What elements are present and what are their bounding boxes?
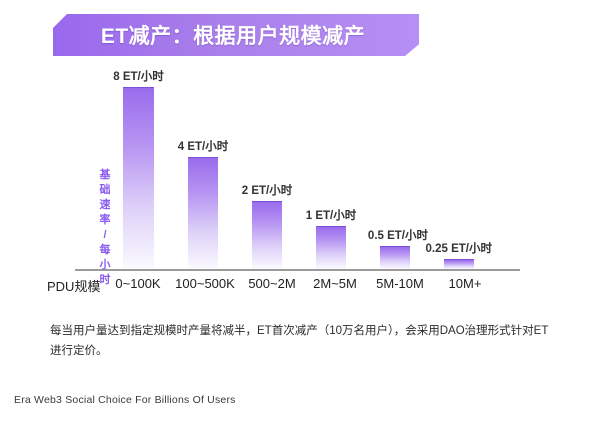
y-axis-caption-char: / (96, 228, 114, 243)
x-axis-tick-label: 100~500K (175, 276, 235, 291)
y-axis-caption-char: 础 (96, 183, 114, 198)
chart-bar-group: 4 ET/小时 (188, 158, 218, 269)
x-axis-tick-label: 10M+ (449, 276, 482, 291)
bar-chart: 基 础 速 率 / 每 小 时 8 ET/小时 4 ET/小时 2 ET/小时 … (0, 60, 600, 275)
chart-bar[interactable] (252, 201, 282, 269)
y-axis-caption-char: 率 (96, 213, 114, 228)
chart-bar-value-label: 2 ET/小时 (242, 182, 292, 198)
chart-bar[interactable] (380, 246, 410, 269)
x-axis-tick-label: 0~100K (115, 276, 160, 291)
chart-bar-value-label: 1 ET/小时 (306, 207, 356, 223)
chart-bar[interactable] (123, 87, 154, 269)
chart-bar[interactable] (188, 157, 218, 269)
chart-bar-group: 1 ET/小时 (316, 227, 346, 269)
y-axis-caption-char: 速 (96, 198, 114, 213)
chart-bar-value-label: 8 ET/小时 (113, 68, 163, 84)
y-axis-caption: 基 础 速 率 / 每 小 时 (96, 168, 114, 288)
footer-tagline: Era Web3 Social Choice For Billions Of U… (14, 394, 236, 406)
page-title: ET减产：根据用户规模减产 (101, 20, 371, 50)
y-axis-caption-char: 每 (96, 243, 114, 258)
chart-bar-value-label: 4 ET/小时 (178, 138, 228, 154)
chart-bar-value-label: 0.25 ET/小时 (426, 240, 492, 256)
chart-bar[interactable] (316, 226, 346, 269)
title-banner: ET减产：根据用户规模减产 (53, 14, 419, 56)
y-axis-caption-char: 小 (96, 258, 114, 273)
chart-bar[interactable] (444, 259, 474, 269)
x-axis: PDU规模 0~100K 100~500K 500~2M 2M~5M 5M-10… (0, 276, 600, 296)
chart-bar-group: 0.25 ET/小时 (444, 260, 474, 269)
x-axis-title: PDU规模 (47, 276, 100, 295)
y-axis-caption-char: 基 (96, 168, 114, 183)
chart-axis-line (75, 269, 520, 271)
chart-bar-group: 2 ET/小时 (252, 202, 282, 269)
chart-bar-group: 0.5 ET/小时 (380, 247, 410, 269)
body-paragraph: 每当用户量达到指定规模时产量将减半，ET首次减产（10万名用户），会采用DAO治… (50, 321, 555, 361)
x-axis-tick-label: 5M-10M (376, 276, 424, 291)
chart-bar-group: 8 ET/小时 (123, 88, 154, 269)
x-axis-tick-label: 500~2M (248, 276, 295, 291)
chart-bar-value-label: 0.5 ET/小时 (368, 227, 428, 243)
x-axis-tick-label: 2M~5M (313, 276, 357, 291)
